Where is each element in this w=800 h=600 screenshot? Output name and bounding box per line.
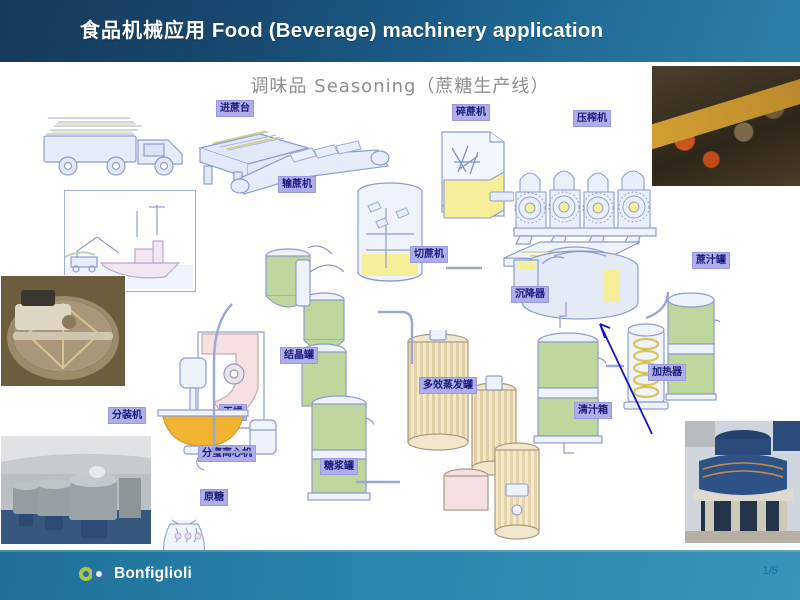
label-juice-tank: 蔗汁罐 <box>692 252 730 269</box>
label-crystallizer: 结晶罐 <box>280 347 318 364</box>
vertical-vessel-graphic <box>486 440 548 548</box>
photo-centrifuges <box>0 435 152 545</box>
slide-footer: Bonfiglioli 1/5 <box>0 550 800 600</box>
photo-mill-hall <box>651 65 800 187</box>
label-packing-machine: 分装机 <box>108 407 146 424</box>
label-cane-shredder: 碎蔗机 <box>452 104 490 121</box>
syrup-tank-graphic <box>304 392 374 512</box>
juice-tank-graphic <box>662 290 720 408</box>
clarifier-graphic <box>508 242 646 328</box>
clear-juice-tank-graphic <box>530 328 606 454</box>
sketch-truck <box>38 104 198 184</box>
label-cane-cutter: 切蔗机 <box>410 246 448 263</box>
label-cane-feed-table: 进蔗台 <box>216 100 254 117</box>
label-heater: 加热器 <box>648 364 686 381</box>
label-raw-sugar: 原糖 <box>200 489 228 506</box>
packing-machine-graphic <box>150 354 260 484</box>
page-title-cn: 食品机械应用 <box>80 20 206 42</box>
photo-extractor <box>0 275 126 387</box>
slide-header: 食品机械应用 Food (Beverage) machinery applica… <box>0 0 800 62</box>
label-cane-conveyor: 输蔗机 <box>278 176 316 193</box>
label-clarifier: 沉降器 <box>511 286 549 303</box>
label-syrup-tank: 糖浆罐 <box>320 458 358 475</box>
label-cane-mill-press: 压榨机 <box>573 110 611 127</box>
cane-shredder-graphic <box>434 118 514 238</box>
slide-root: 食品机械应用 Food (Beverage) machinery applica… <box>0 0 800 600</box>
page-number: 1/5 <box>763 565 778 577</box>
label-clear-juice-tank: 清汁箱 <box>574 402 612 419</box>
label-centrifugal-separator: 分蜜离心机 <box>198 445 256 462</box>
photo-cooling-tower <box>684 420 800 544</box>
diagram-canvas: 调味品 Seasoning（蔗糖生产线） <box>0 62 800 550</box>
page-title: 食品机械应用 Food (Beverage) machinery applica… <box>80 0 603 62</box>
raw-sugar-graphic <box>158 514 212 550</box>
page-title-en: Food (Beverage) machinery application <box>212 19 603 42</box>
bonfiglioli-logo-icon <box>78 566 108 582</box>
brand-name: Bonfiglioli <box>114 565 192 583</box>
label-multi-effect-evaporator: 多效蒸发罐 <box>419 377 477 394</box>
brand-lockup: Bonfiglioli <box>78 562 192 586</box>
